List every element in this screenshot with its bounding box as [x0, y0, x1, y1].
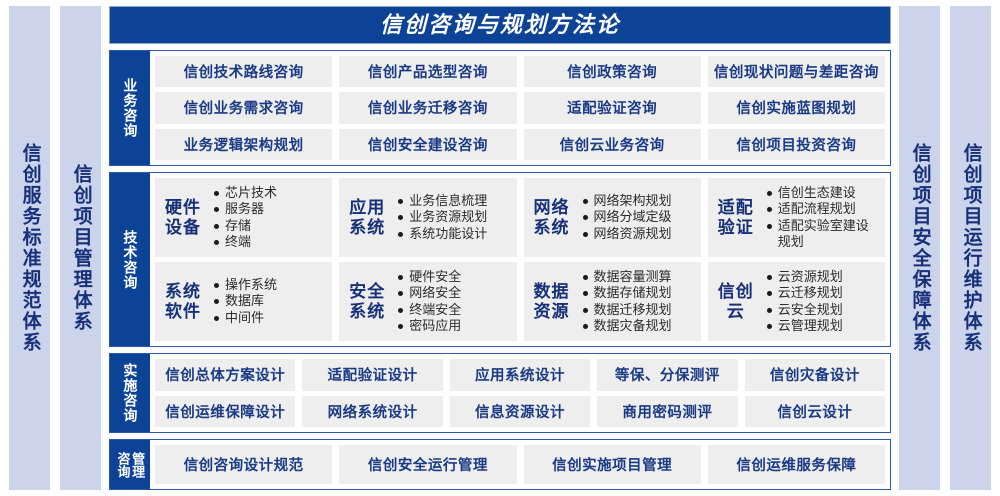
list-item: 数据灾备规划	[582, 318, 695, 334]
list-item: 数据容量测算	[582, 269, 695, 285]
list-item[interactable]: 信创技术路线咨询	[155, 56, 332, 87]
list-item: 操作系统	[213, 277, 326, 293]
tech-card-list: 网络架构规划 网络分域定级 网络资源规划	[580, 193, 695, 242]
pillar-project-security-label: 信创项目安全保障体系	[909, 143, 929, 353]
list-item[interactable]: 信息资源设计	[450, 396, 590, 428]
list-item: 系统功能设计	[397, 226, 510, 242]
list-item[interactable]: 业务逻辑架构规划	[155, 129, 332, 160]
tech-card-title: 应用 系统	[345, 198, 389, 236]
list-item[interactable]: 适配验证咨询	[524, 92, 701, 123]
table-row: 硬件 设备 芯片技术 服务器 存储 终端 应用 系统 业务信息梳理 业务资源规划	[155, 178, 885, 257]
list-item[interactable]: 等保、分保测评	[597, 359, 737, 391]
list-item[interactable]: 信创政策咨询	[524, 56, 701, 87]
list-item[interactable]: 网络系统设计	[302, 396, 442, 428]
table-row: 信创总体方案设计 适配验证设计 应用系统设计 等保、分保测评 信创灾备设计	[155, 359, 885, 391]
tech-card-list: 硬件安全 网络安全 终端安全 密码应用	[395, 269, 510, 334]
table-row: 信创运维保障设计 网络系统设计 信息资源设计 商用密码测评 信创云设计	[155, 396, 885, 428]
pillar-service-standard-label: 信创服务标准规范体系	[19, 143, 39, 353]
list-item: 数据库	[213, 293, 326, 309]
list-item[interactable]: 信创运维服务保障	[708, 445, 885, 484]
tech-card-list: 云资源规划 云迁移规划 云安全规划 云管理规划	[764, 269, 879, 334]
tech-card-list: 数据容量测算 数据存储规划 数据迁移规划 数据灾备规划	[580, 269, 695, 334]
list-item: 业务信息梳理	[397, 193, 510, 209]
list-item: 硬件安全	[397, 269, 510, 285]
tech-card-hardware[interactable]: 硬件 设备 芯片技术 服务器 存储 终端	[155, 178, 332, 257]
tech-card-title: 适配 验证	[714, 198, 758, 236]
tech-card-security[interactable]: 安全 系统 硬件安全 网络安全 终端安全 密码应用	[339, 262, 516, 341]
table-row: 系统 软件 操作系统 数据库 中间件 安全 系统 硬件安全 网络安全 终端安全	[155, 262, 885, 341]
list-item: 服务器	[213, 201, 326, 217]
pillar-project-operations: 信创项目运行维护体系	[950, 6, 991, 490]
list-item: 数据迁移规划	[582, 302, 695, 318]
section-management-label-text-2: 管理	[131, 452, 145, 478]
list-item: 芯片技术	[213, 185, 326, 201]
list-item: 适配实验室建设规划	[766, 218, 879, 251]
tech-card-network[interactable]: 网络 系统 网络架构规划 网络分域定级 网络资源规划	[524, 178, 701, 257]
list-item[interactable]: 信创项目投资咨询	[708, 129, 885, 160]
table-row: 信创技术路线咨询 信创产品选型咨询 信创政策咨询 信创现状问题与差距咨询	[155, 56, 885, 87]
tech-card-system-software[interactable]: 系统 软件 操作系统 数据库 中间件	[155, 262, 332, 341]
list-item: 适配流程规划	[766, 201, 879, 217]
main-panel: 信创咨询与规划方法论 业务咨询 信创技术路线咨询 信创产品选型咨询 信创政策咨询…	[109, 6, 891, 490]
section-business-label: 业务咨询	[110, 51, 150, 165]
list-item: 云资源规划	[766, 269, 879, 285]
list-item: 数据存储规划	[582, 285, 695, 301]
list-item[interactable]: 信创业务迁移咨询	[339, 92, 516, 123]
tech-card-title: 信创 云	[714, 282, 758, 320]
pillar-project-operations-label: 信创项目运行维护体系	[960, 143, 980, 353]
list-item: 存储	[213, 218, 326, 234]
list-item: 网络资源规划	[582, 226, 695, 242]
tech-card-list: 芯片技术 服务器 存储 终端	[211, 185, 326, 250]
section-business-consulting: 业务咨询 信创技术路线咨询 信创产品选型咨询 信创政策咨询 信创现状问题与差距咨…	[109, 50, 891, 166]
pillar-project-management: 信创项目管理体系	[60, 6, 101, 490]
table-row: 信创咨询设计规范 信创安全运行管理 信创实施项目管理 信创运维服务保障	[155, 445, 885, 484]
section-implementation-label-text: 实施咨询	[123, 363, 138, 423]
diagram-canvas: 信创服务标准规范体系 信创项目管理体系 信创咨询与规划方法论 业务咨询 信创技术…	[0, 0, 1000, 496]
tech-card-title: 数据 资源	[530, 282, 574, 320]
section-implementation-body: 信创总体方案设计 适配验证设计 应用系统设计 等保、分保测评 信创灾备设计 信创…	[150, 354, 890, 432]
section-management-label-text-1: 咨询	[116, 452, 130, 478]
list-item[interactable]: 适配验证设计	[302, 359, 442, 391]
section-technical-body: 硬件 设备 芯片技术 服务器 存储 终端 应用 系统 业务信息梳理 业务资源规划	[150, 173, 890, 346]
pillar-service-standard: 信创服务标准规范体系	[9, 6, 50, 490]
tech-card-title: 系统 软件	[161, 282, 205, 320]
pillar-project-management-label: 信创项目管理体系	[70, 164, 90, 332]
list-item: 云管理规划	[766, 318, 879, 334]
tech-card-title: 硬件 设备	[161, 198, 205, 236]
tech-card-title: 网络 系统	[530, 198, 574, 236]
tech-card-list: 业务信息梳理 业务资源规划 系统功能设计	[395, 193, 510, 242]
list-item: 终端	[213, 234, 326, 250]
section-implementation-consulting: 实施咨询 信创总体方案设计 适配验证设计 应用系统设计 等保、分保测评 信创灾备…	[109, 353, 891, 433]
list-item: 网络架构规划	[582, 193, 695, 209]
tech-card-title: 安全 系统	[345, 282, 389, 320]
list-item[interactable]: 信创安全建设咨询	[339, 129, 516, 160]
list-item: 终端安全	[397, 302, 510, 318]
section-implementation-label: 实施咨询	[110, 354, 150, 432]
list-item: 信创生态建设	[766, 185, 879, 201]
list-item: 云迁移规划	[766, 285, 879, 301]
list-item[interactable]: 信创业务需求咨询	[155, 92, 332, 123]
tech-card-list: 信创生态建设 适配流程规划 适配实验室建设规划	[764, 185, 879, 250]
section-consulting-management: 咨询 管理 信创咨询设计规范 信创安全运行管理 信创实施项目管理 信创运维服务保…	[109, 439, 891, 490]
list-item[interactable]: 信创总体方案设计	[155, 359, 295, 391]
tech-card-cloud[interactable]: 信创 云 云资源规划 云迁移规划 云安全规划 云管理规划	[708, 262, 885, 341]
tech-card-adaptation[interactable]: 适配 验证 信创生态建设 适配流程规划 适配实验室建设规划	[708, 178, 885, 257]
table-row: 信创业务需求咨询 信创业务迁移咨询 适配验证咨询 信创实施蓝图规划	[155, 92, 885, 123]
list-item: 密码应用	[397, 318, 510, 334]
list-item[interactable]: 信创现状问题与差距咨询	[708, 56, 885, 87]
list-item[interactable]: 商用密码测评	[597, 396, 737, 428]
list-item[interactable]: 应用系统设计	[450, 359, 590, 391]
list-item[interactable]: 信创咨询设计规范	[155, 445, 332, 484]
list-item[interactable]: 信创云业务咨询	[524, 129, 701, 160]
section-technical-label: 技术咨询	[110, 173, 150, 346]
list-item[interactable]: 信创实施项目管理	[524, 445, 701, 484]
list-item: 网络安全	[397, 285, 510, 301]
tech-card-list: 操作系统 数据库 中间件	[211, 277, 326, 326]
tech-card-data-resource[interactable]: 数据 资源 数据容量测算 数据存储规划 数据迁移规划 数据灾备规划	[524, 262, 701, 341]
list-item[interactable]: 信创安全运行管理	[339, 445, 516, 484]
section-technical-consulting: 技术咨询 硬件 设备 芯片技术 服务器 存储 终端 应用 系统	[109, 172, 891, 347]
pillar-project-security: 信创项目安全保障体系	[899, 6, 940, 490]
list-item: 中间件	[213, 310, 326, 326]
list-item[interactable]: 信创运维保障设计	[155, 396, 295, 428]
section-business-label-text: 业务咨询	[123, 78, 138, 138]
diagram-title: 信创咨询与规划方法论	[109, 6, 891, 44]
list-item: 业务资源规划	[397, 209, 510, 225]
list-item: 云安全规划	[766, 302, 879, 318]
list-item[interactable]: 信创云设计	[745, 396, 885, 428]
table-row: 业务逻辑架构规划 信创安全建设咨询 信创云业务咨询 信创项目投资咨询	[155, 129, 885, 160]
section-management-body: 信创咨询设计规范 信创安全运行管理 信创实施项目管理 信创运维服务保障	[150, 440, 890, 489]
section-business-body: 信创技术路线咨询 信创产品选型咨询 信创政策咨询 信创现状问题与差距咨询 信创业…	[150, 51, 890, 165]
tech-card-application[interactable]: 应用 系统 业务信息梳理 业务资源规划 系统功能设计	[339, 178, 516, 257]
section-technical-label-text: 技术咨询	[123, 230, 138, 290]
list-item[interactable]: 信创灾备设计	[745, 359, 885, 391]
list-item[interactable]: 信创实施蓝图规划	[708, 92, 885, 123]
list-item[interactable]: 信创产品选型咨询	[339, 56, 516, 87]
list-item: 网络分域定级	[582, 209, 695, 225]
section-management-label: 咨询 管理	[110, 440, 150, 489]
